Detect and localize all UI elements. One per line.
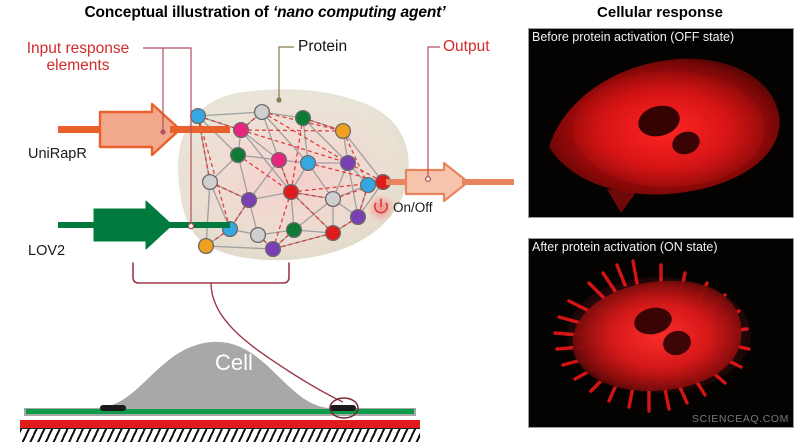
network-node <box>326 192 341 207</box>
leader-output <box>426 47 440 181</box>
watermark: SCIENCEAQ.COM <box>692 413 789 425</box>
label-protein: Protein <box>298 38 347 56</box>
label-cell: Cell <box>215 350 253 376</box>
network-node <box>272 153 287 168</box>
substrate-hatch <box>20 428 420 442</box>
input-response-line2: elements <box>8 57 148 74</box>
cell-schematic <box>0 250 520 442</box>
network-node <box>287 223 302 238</box>
network-node <box>301 156 316 171</box>
label-input-response-elements: Input response elements <box>8 40 148 74</box>
figure-root: Conceptual illustration of ‘nano computi… <box>0 0 800 442</box>
network-node <box>336 124 351 139</box>
micrograph-panel-off[interactable]: Before protein activation (OFF state) <box>528 28 794 218</box>
network-node <box>251 228 266 243</box>
network-node <box>234 123 249 138</box>
network-node <box>284 185 299 200</box>
network-node <box>296 111 311 126</box>
network-node <box>242 193 257 208</box>
network-node <box>361 178 376 193</box>
micrograph-off-caption: Before protein activation (OFF state) <box>532 30 734 44</box>
micrograph-off-image <box>529 29 793 217</box>
substrate-red-bar <box>20 420 420 428</box>
network-node <box>351 210 366 225</box>
right-panel-title: Cellular response <box>560 4 760 21</box>
network-node <box>203 175 218 190</box>
micrograph-panel-on[interactable]: After protein activation (ON state) SCIE… <box>528 238 794 428</box>
network-node <box>191 109 206 124</box>
input-response-line1: Input response <box>8 40 148 57</box>
micrograph-on-image <box>529 239 793 427</box>
network-node <box>231 148 246 163</box>
label-onoff: On/Off <box>393 200 433 215</box>
network-node <box>341 156 356 171</box>
label-unirapr: UniRapR <box>28 146 87 162</box>
blob-bracket <box>133 263 289 283</box>
label-output: Output <box>443 38 490 55</box>
membrane-anchor-left <box>100 405 126 411</box>
membrane-anchor-right <box>330 405 356 411</box>
network-node <box>326 226 341 241</box>
network-node <box>255 105 270 120</box>
micrograph-on-caption: After protein activation (ON state) <box>532 240 718 254</box>
power-glow <box>367 194 395 222</box>
